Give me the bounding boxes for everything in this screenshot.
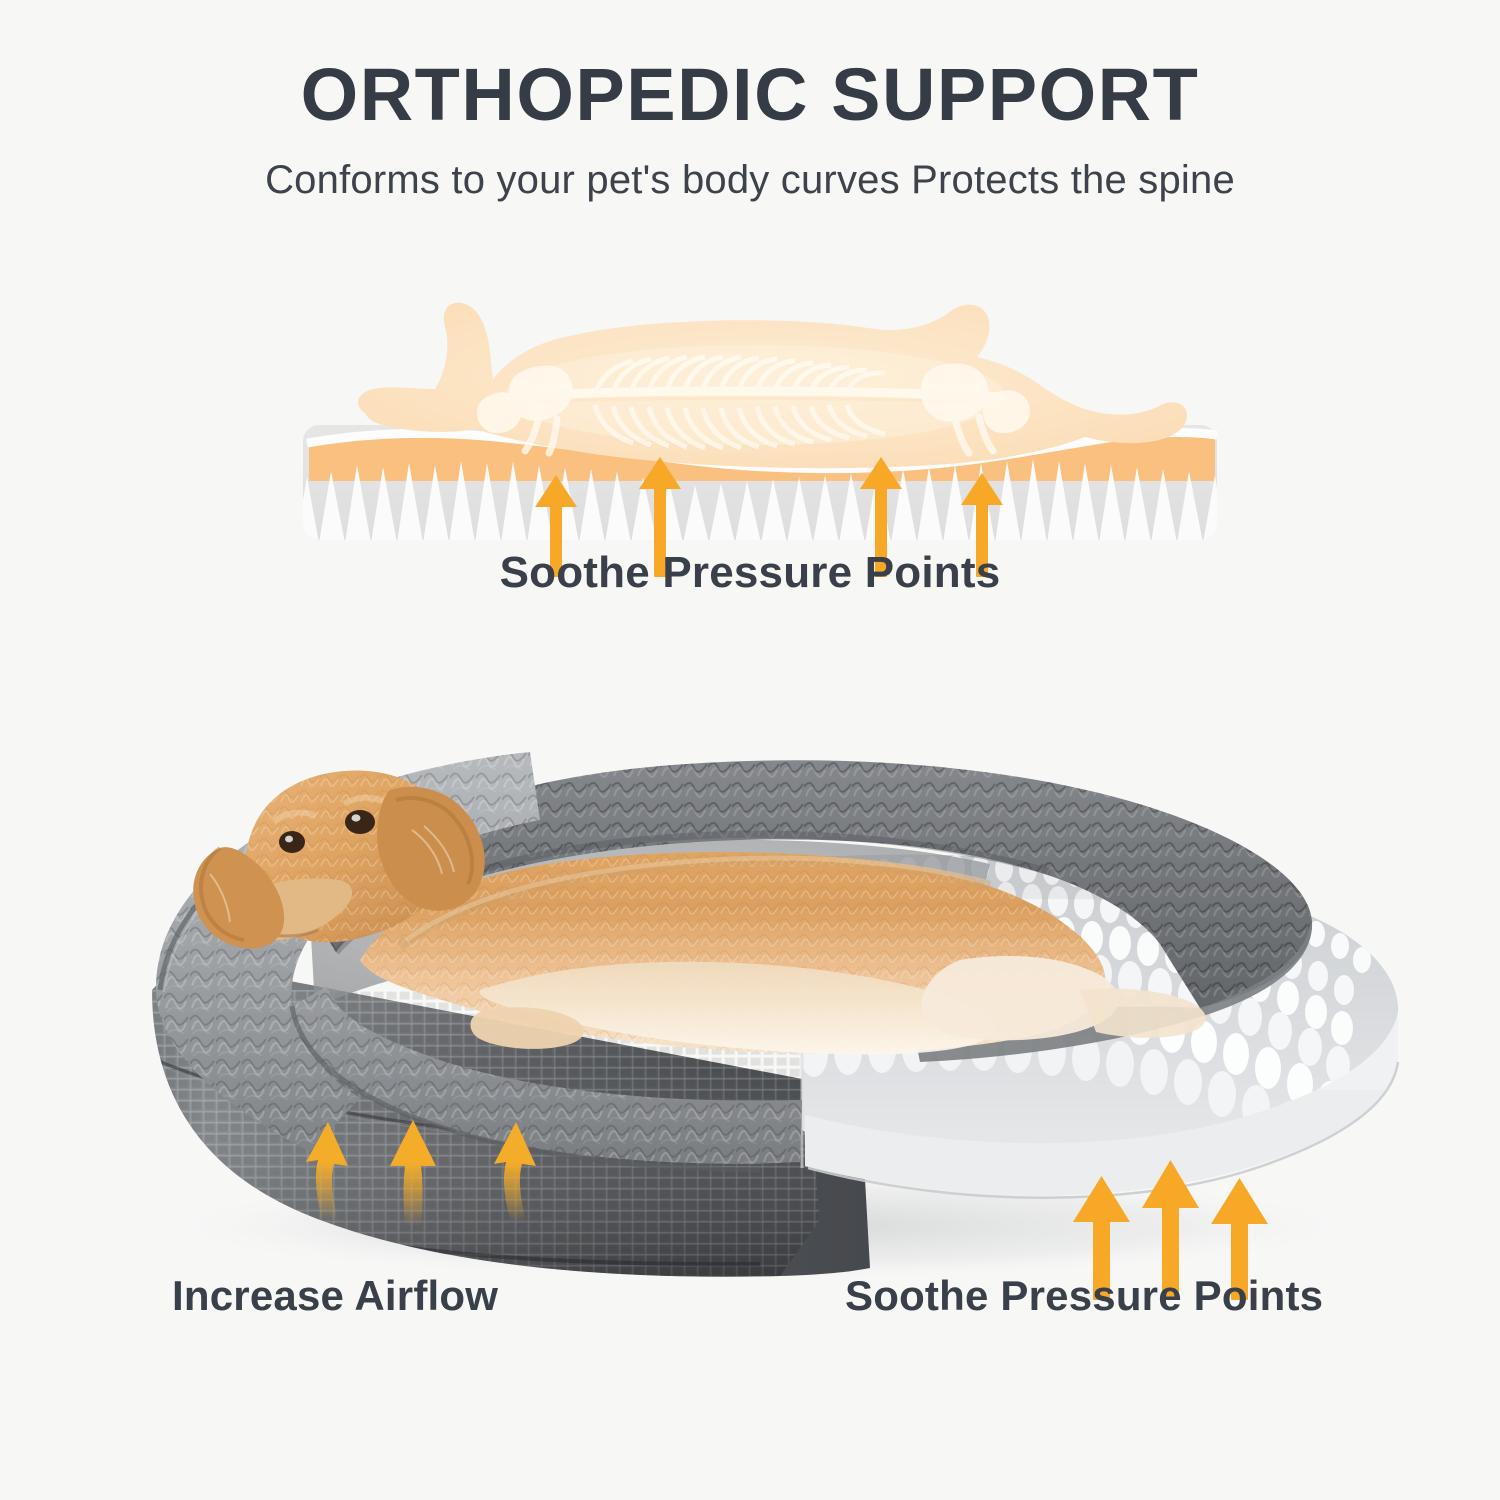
infographic-root: ORTHOPEDIC SUPPORT Conforms to your pet'… [0, 0, 1500, 1500]
page-subtitle: Conforms to your pet's body curves Prote… [0, 158, 1500, 203]
product-photo-svg [60, 660, 1450, 1300]
callout-label-airflow: Increase Airflow [172, 1272, 498, 1320]
bottom-callout-labels: Increase Airflow Soothe Pressure Points [0, 1272, 1500, 1342]
page-title: ORTHOPEDIC SUPPORT [0, 58, 1500, 132]
product-photo [60, 660, 1450, 1300]
callout-label-pressure: Soothe Pressure Points [845, 1272, 1323, 1320]
dog-eye-right [345, 810, 375, 834]
header: ORTHOPEDIC SUPPORT Conforms to your pet'… [0, 0, 1500, 203]
diagram-label: Soothe Pressure Points [0, 548, 1500, 598]
dog-eye-left [279, 831, 305, 853]
